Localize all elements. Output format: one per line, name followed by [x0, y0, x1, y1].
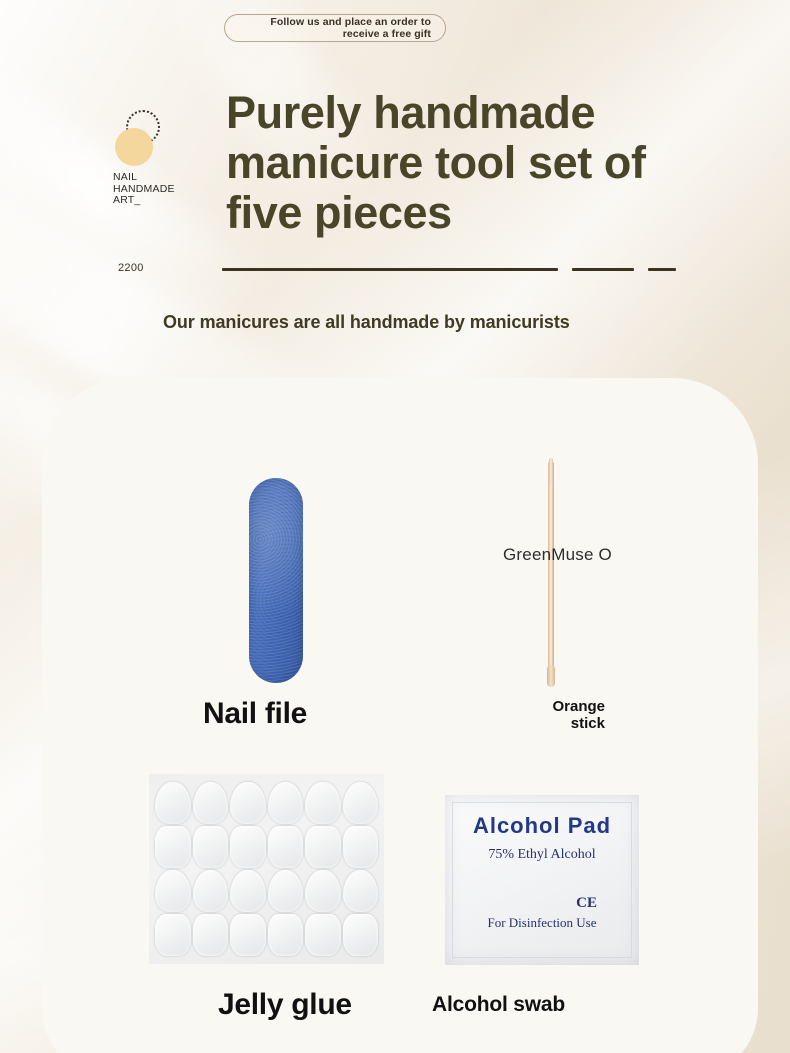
watermark-text: GreenMuse O — [503, 545, 612, 565]
brand-logo: NAIL HANDMADE ART_ — [113, 110, 213, 207]
jelly-tab — [268, 826, 304, 868]
jelly-tab — [343, 782, 379, 824]
jelly-glue-label: Jelly glue — [218, 988, 352, 1022]
ce-mark-icon: CE — [576, 895, 597, 912]
jelly-tab — [343, 826, 379, 868]
jelly-tab — [193, 914, 229, 956]
jelly-tab — [343, 870, 379, 912]
jelly-tab — [193, 826, 229, 868]
orange-stick-tip — [549, 458, 553, 484]
promo-badge[interactable]: Follow us and place an order toreceive a… — [224, 14, 446, 42]
jelly-tab — [193, 782, 229, 824]
divider-group — [222, 268, 676, 271]
logo-mark — [113, 110, 165, 168]
jelly-glue-tab-grid — [155, 782, 378, 956]
jelly-tab — [268, 870, 304, 912]
divider-long — [222, 268, 558, 271]
brand-number: 2200 — [118, 262, 144, 274]
jelly-tab — [230, 782, 266, 824]
orange-stick-label: Orange stick — [500, 698, 605, 732]
tan-circle-icon — [115, 128, 153, 166]
jelly-tab — [155, 914, 191, 956]
alcohol-pad-subtitle: 75% Ethyl Alcohol — [445, 847, 639, 863]
jelly-tab — [305, 782, 341, 824]
jelly-tab — [268, 782, 304, 824]
jelly-tab — [343, 914, 379, 956]
orange-stick-image — [546, 462, 556, 684]
jelly-glue-image — [149, 774, 384, 964]
divider-medium — [572, 268, 634, 271]
orange-stick-body — [548, 462, 554, 684]
brand-name: NAIL HANDMADE ART_ — [113, 172, 213, 207]
promo-badge-line2: receive a free gift — [343, 28, 431, 40]
jelly-tab — [155, 870, 191, 912]
orange-stick-foot — [547, 665, 555, 687]
page-subtitle: Our manicures are all handmade by manicu… — [163, 312, 570, 333]
jelly-tab — [193, 870, 229, 912]
nail-file-image — [249, 478, 303, 683]
jelly-tab — [155, 826, 191, 868]
alcohol-pad-image: Alcohol Pad 75% Ethyl Alcohol CE For Dis… — [445, 795, 639, 965]
alcohol-pad-footer: For Disinfection Use — [445, 915, 639, 931]
jelly-tab — [230, 914, 266, 956]
jelly-tab — [305, 870, 341, 912]
alcohol-swab-label: Alcohol swab — [432, 993, 565, 1017]
promo-badge-text: Follow us and place an order toreceive a… — [270, 16, 431, 40]
jelly-tab — [230, 826, 266, 868]
jelly-tab — [305, 914, 341, 956]
jelly-tab — [305, 826, 341, 868]
promo-badge-line1: Follow us and place an order to — [270, 16, 431, 28]
nail-file-label: Nail file — [203, 697, 307, 731]
jelly-tab — [268, 914, 304, 956]
promo-page: Follow us and place an order toreceive a… — [0, 0, 790, 1053]
divider-short — [648, 268, 676, 271]
alcohol-pad-title: Alcohol Pad — [445, 813, 639, 839]
jelly-tab — [230, 870, 266, 912]
jelly-tab — [155, 782, 191, 824]
page-title: Purely handmade manicure tool set of fiv… — [226, 88, 696, 238]
